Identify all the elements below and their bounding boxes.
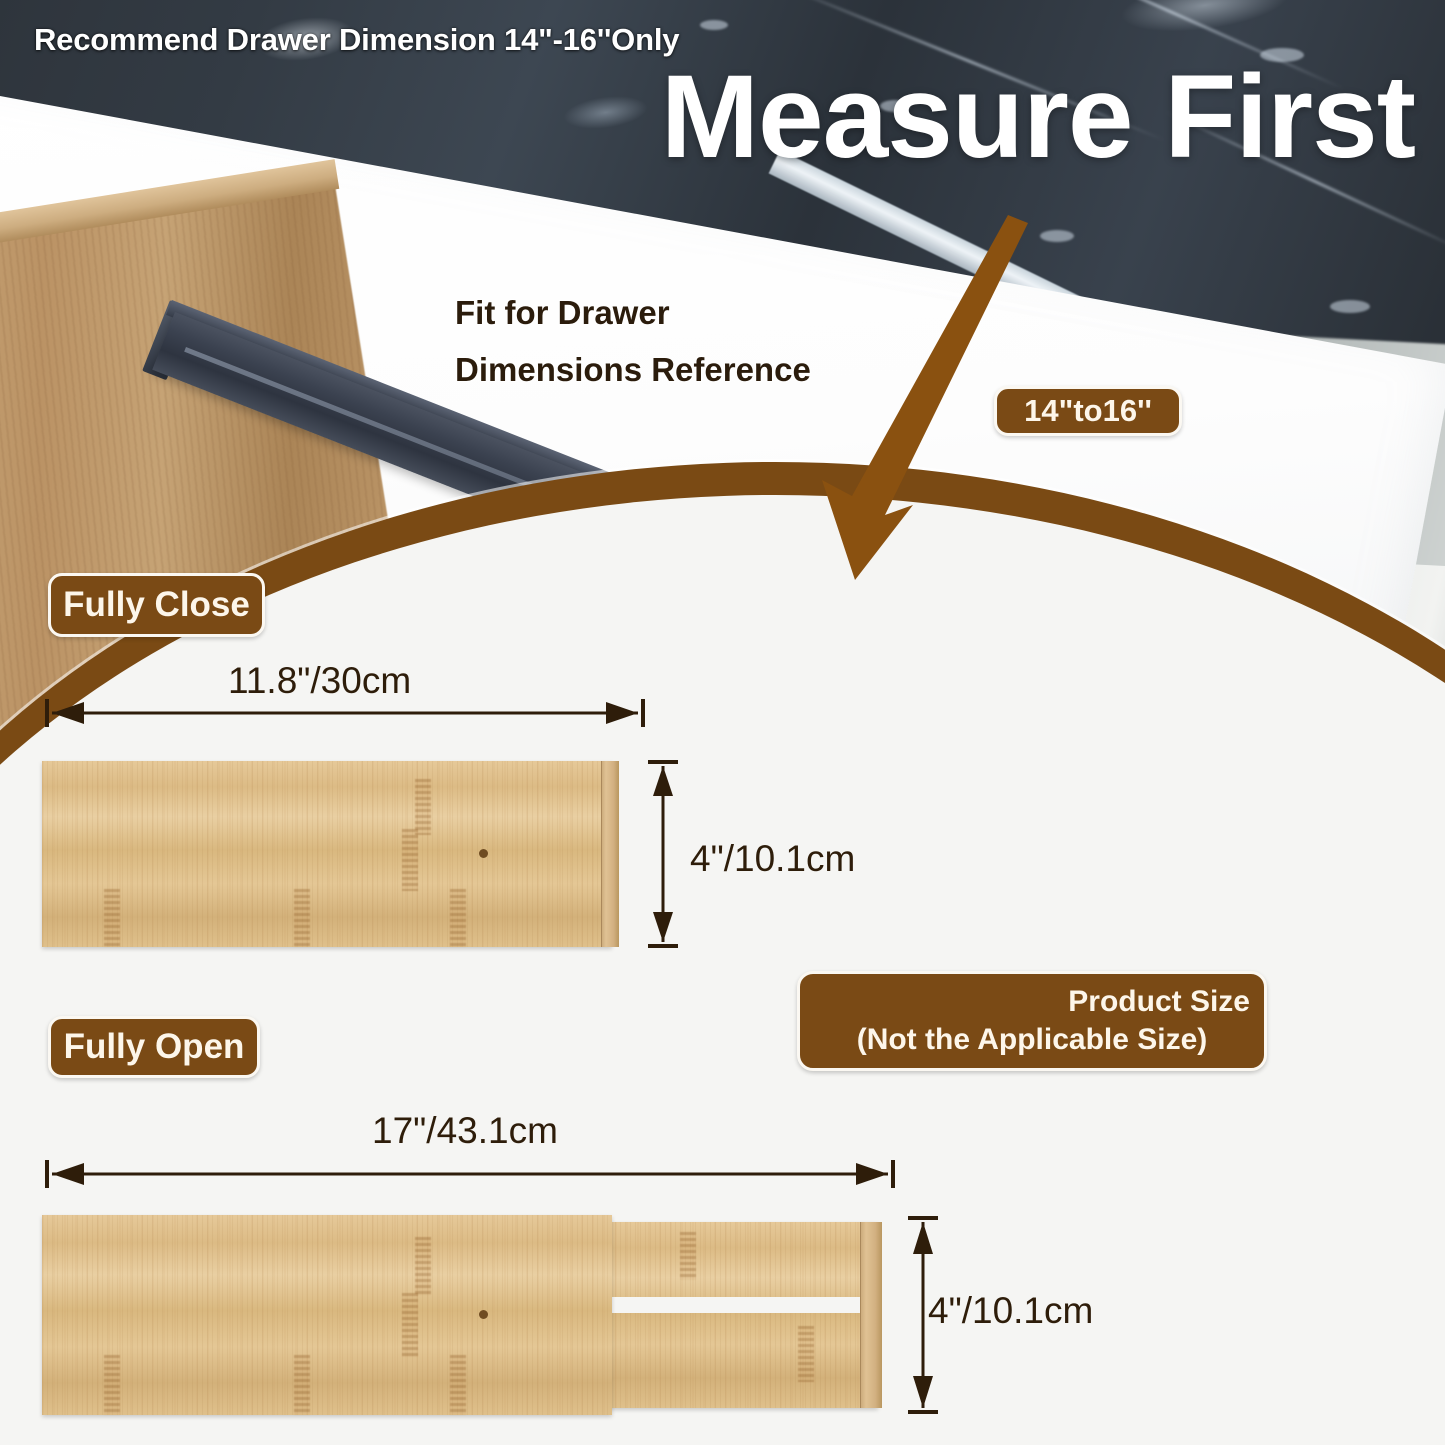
- dim-open-height-label: 4"/10.1cm: [928, 1290, 1093, 1332]
- product-infographic: Recommend Drawer Dimension 14"-16''Only …: [0, 0, 1445, 1445]
- bamboo-node: [415, 1237, 431, 1295]
- bamboo-node: [680, 1232, 696, 1280]
- bamboo-node: [798, 1326, 814, 1382]
- bamboo-node: [104, 1355, 120, 1415]
- badge-fully-open: Fully Open: [48, 1016, 260, 1078]
- dim-open-width-label: 17"/43.1cm: [372, 1110, 558, 1152]
- product-size-line-1: Product Size: [1068, 983, 1250, 1021]
- divider-board-open-front: [42, 1215, 612, 1415]
- product-size-line-2: (Not the Applicable Size): [857, 1021, 1208, 1059]
- dim-closed-height-arrow: [645, 756, 681, 952]
- dim-open-width-arrow: [40, 1156, 900, 1192]
- bamboo-node: [450, 889, 466, 947]
- dim-closed-height-label: 4"/10.1cm: [690, 838, 855, 880]
- bamboo-node: [294, 1355, 310, 1415]
- divider-board-closed-endcap: [601, 761, 619, 947]
- adjustment-slot: [600, 1297, 865, 1313]
- callout-line-2: Dimensions Reference: [455, 342, 811, 399]
- adjustment-pin-hole: [479, 1310, 488, 1319]
- bamboo-node: [294, 889, 310, 947]
- bamboo-node: [450, 1355, 466, 1415]
- divider-board-open-endcap: [860, 1222, 882, 1408]
- badge-drawer-range: 14"to16'': [994, 386, 1182, 436]
- bamboo-node: [402, 829, 418, 891]
- badge-fully-close: Fully Close: [48, 573, 265, 637]
- granite-speck: [700, 20, 728, 30]
- granite-speck: [1330, 300, 1370, 313]
- divider-board-closed: [42, 761, 612, 947]
- callout-line-1: Fit for Drawer: [455, 285, 811, 342]
- page-title: Measure First: [0, 58, 1415, 176]
- bamboo-node: [104, 889, 120, 947]
- header-subtitle: Recommend Drawer Dimension 14"-16''Only: [34, 22, 679, 58]
- adjustment-pin-hole: [479, 849, 488, 858]
- bamboo-node: [415, 779, 431, 835]
- badge-product-size: Product Size (Not the Applicable Size): [797, 971, 1267, 1071]
- photo-callout: Fit for Drawer Dimensions Reference: [455, 285, 811, 399]
- dim-closed-width-arrow: [40, 695, 650, 731]
- bamboo-node: [402, 1293, 418, 1357]
